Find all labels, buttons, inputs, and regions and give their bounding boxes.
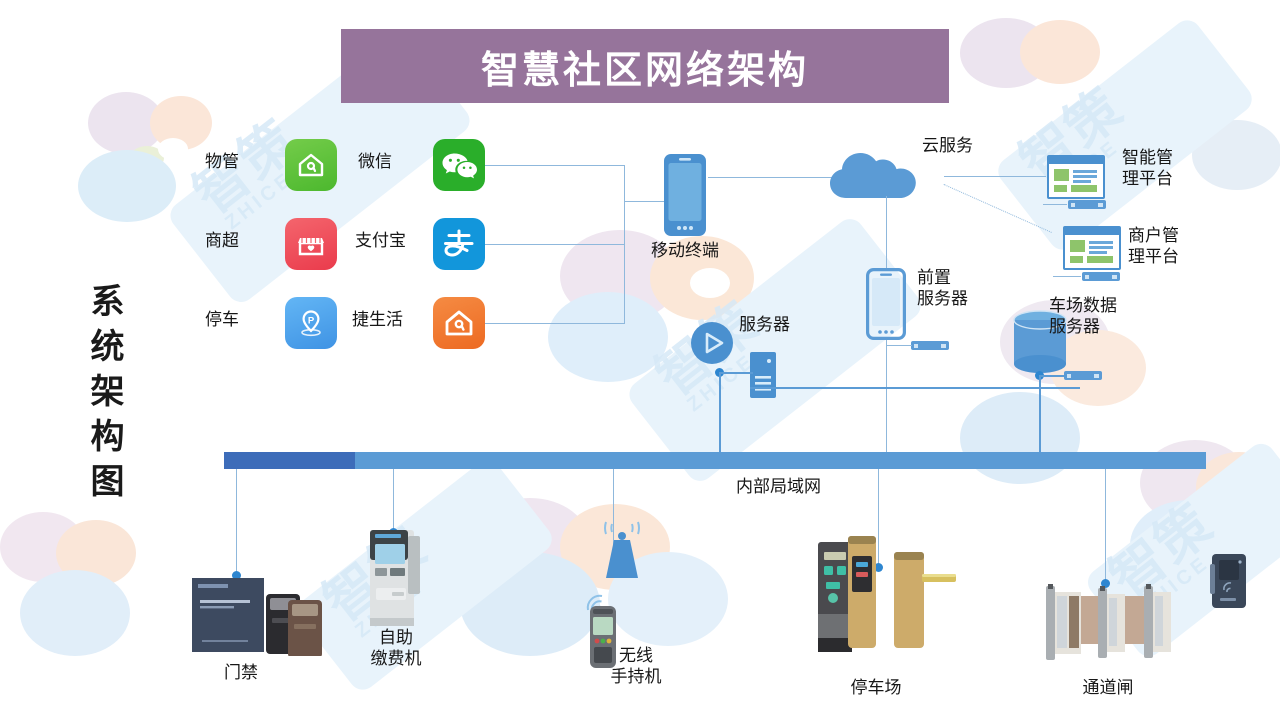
connector-line [886,340,887,454]
node-label-merchant-platform: 商户管 理平台 [1128,226,1179,267]
connector-line [944,176,1046,177]
category-label-property: 物管 [205,152,239,173]
connector-line [485,165,625,166]
node-label-server: 服务器 [739,315,790,336]
turnstile-gate-icon [1040,578,1175,673]
app-label-jieshenghuo: 捷生活 [352,310,403,331]
bus-label-internal-lan: 内部局域网 [736,477,821,498]
access-control-icon [192,578,322,661]
side-title-char: 图 [78,460,138,505]
server-play-icon [690,321,734,370]
node-label-cloud-service: 云服务 [922,136,973,157]
page-title-banner: 智慧社区网络架构 [341,29,949,103]
device-label-access-control: 门禁 [196,663,286,684]
bg-blob [158,138,188,160]
side-title-char: 构 [78,415,138,460]
bg-blob [960,392,1080,484]
node-label-front-server: 前置 服务器 [917,268,968,309]
window-line [1089,246,1113,249]
window-line [1073,175,1097,178]
wechat-icon [433,139,485,191]
home-green-icon [285,139,337,191]
window-line [1089,251,1107,254]
category-label-parking: 停车 [205,310,239,331]
bg-blob [690,268,730,298]
side-title-char: 统 [78,325,138,370]
device-label-parking-lot: 停车场 [826,678,926,699]
drop-line-turnstile [1105,469,1106,583]
connector-line [1040,375,1064,377]
parking-pin-icon: P [285,297,337,349]
app-label-wechat: 微信 [358,152,392,173]
rack-icon [1064,371,1102,380]
connector-line [886,196,887,270]
node-label-mobile-terminal: 移动终端 [645,241,725,262]
connector-line [1043,204,1067,205]
node-label-smart-platform: 智能管 理平台 [1122,148,1173,189]
alipay-icon [433,218,485,270]
page-title: 智慧社区网络架构 [481,39,809,94]
server-tower-icon [750,352,776,403]
bg-blob [548,292,668,382]
connector-line [1053,276,1081,277]
side-vertical-title: 系 统 架 构 图 [78,280,138,504]
connector-line [719,372,753,374]
rack-icon [1068,200,1106,209]
window-block [1070,240,1085,252]
window-button [1071,185,1097,192]
svg-text:P: P [308,316,315,327]
window-titlebar [1049,157,1103,164]
window-line [1089,241,1113,244]
payment-kiosk-icon [364,530,426,631]
diagram-canvas: 智策 ZHICE 智策 ZHICE 智策 ZHICE 智策 ZHICE 智策 Z… [0,0,1280,720]
side-title-char: 架 [78,370,138,415]
window-titlebar [1065,228,1119,235]
drop-line-access-control [236,469,237,575]
window-line [1073,170,1097,173]
device-label-wireless-handheld: 无线 手持机 [588,646,684,687]
node-label-parking-db-server: 车场数据 服务器 [1049,296,1117,337]
rack-icon [911,341,949,350]
connector-line [485,244,625,245]
window-button [1087,256,1113,263]
connector-line [886,345,912,346]
connector-line [719,372,721,454]
wireless-tower-icon [592,520,652,589]
connector-line [1039,375,1041,454]
device-label-turnstile: 通道闸 [1060,678,1156,699]
shop-red-icon [285,218,337,270]
window-button [1070,256,1083,263]
card-reader-icon [1210,554,1252,615]
bg-blob [78,150,176,222]
front-server-icon [866,268,906,345]
parking-barrier-icon [806,530,956,663]
bus-accent-segment [224,452,355,469]
smart-platform-icon [1047,155,1105,199]
window-block [1054,169,1069,181]
internal-lan-bus [224,452,1206,469]
rack-icon [1082,272,1120,281]
merchant-platform-icon [1063,226,1121,270]
connector-line [750,387,1080,389]
app-label-alipay: 支付宝 [355,231,406,252]
bg-blob [20,570,130,656]
device-label-payment-kiosk: 自助 缴费机 [348,628,444,669]
drop-line-payment-kiosk [393,469,394,533]
window-button [1054,185,1067,192]
side-title-char: 系 [78,280,138,325]
window-line [1073,180,1091,183]
category-label-retail: 商超 [205,231,239,252]
connector-line [485,323,625,324]
bg-blob [1020,20,1100,84]
mobile-terminal-icon [662,152,708,243]
connector-line [624,165,625,324]
home-orange-icon [433,297,485,349]
